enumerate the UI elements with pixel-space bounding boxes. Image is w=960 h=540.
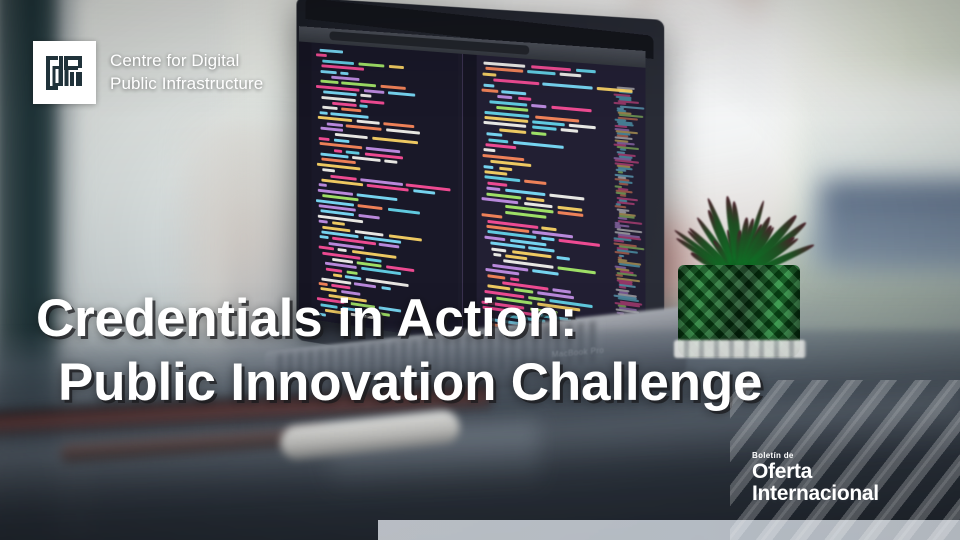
headline-line-1: Credentials in Action: <box>36 289 577 348</box>
footer-brand-text: Boletín de Oferta Internacional <box>752 451 879 504</box>
cdpi-name-line-2: Public Infrastructure <box>110 73 263 96</box>
cdpi-name-line-1: Centre for Digital <box>110 50 263 73</box>
code-gutter-left <box>299 41 311 319</box>
cdpi-logo-lockup: Centre for Digital Public Infrastructure <box>33 41 263 104</box>
footer-brand-block: Boletín de Oferta Internacional <box>730 380 960 540</box>
cdpi-wordmark: Centre for Digital Public Infrastructure <box>110 50 263 95</box>
outside-vehicle-window-blur <box>820 180 960 270</box>
presentation-slide: MacBook Pro <box>0 0 960 540</box>
cdpi-monogram-icon <box>33 41 96 104</box>
footer-brand-line-1: Oferta <box>752 461 879 482</box>
footer-brand-line-2: Internacional <box>752 483 879 504</box>
footer-brand-kicker: Boletín de <box>752 451 879 460</box>
